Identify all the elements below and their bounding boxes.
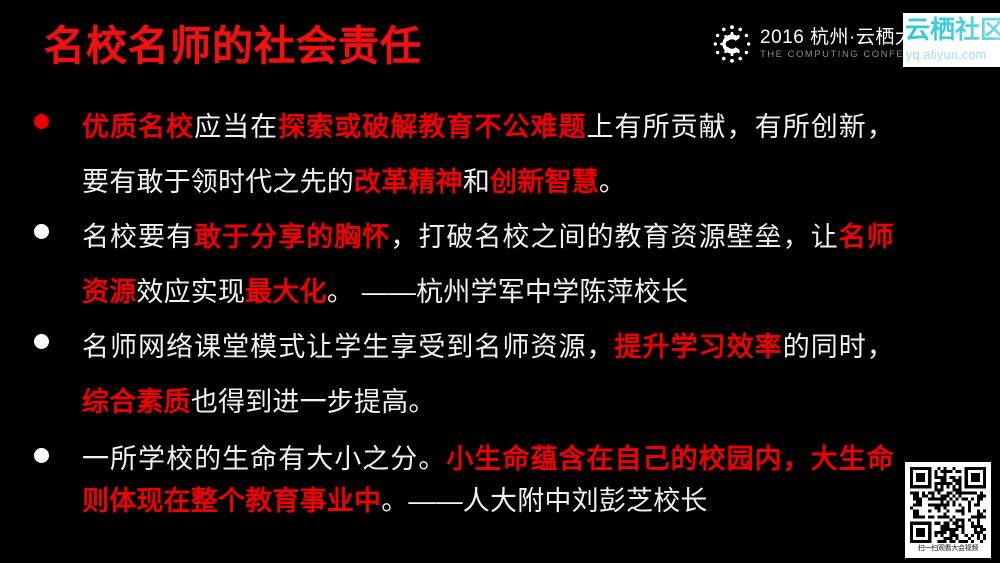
highlighted-text: 探索或破解教育不公难题 [278, 112, 586, 142]
list-item-text: 名师网络课堂模式让学生享受到名师资源，提升学习效率的同时，综合素质也得到进一步提… [82, 320, 894, 430]
community-badge-title: 云栖社区 [905, 15, 1000, 45]
plain-text: 。 [599, 167, 626, 197]
highlighted-text: 综合素质 [82, 387, 191, 417]
plain-text: 。 ——杭州学军中学陈萍校长 [327, 277, 688, 307]
list-item: 名校要有敢于分享的胸怀，打破名校之间的教育资源壁垒，让名师资源效应实现最大化。 … [34, 210, 894, 320]
bullet-marker-icon [34, 224, 49, 239]
highlighted-text: 创新智慧 [490, 167, 599, 197]
qr-code-caption: 扫一扫观看大会视频 [905, 543, 991, 554]
plain-text: 和 [463, 167, 490, 197]
list-item: 一所学校的生命有大小之分。小生命蕴含在自己的校园内，大生命则体现在整个教育事业中… [34, 438, 894, 522]
bullet-marker-icon [34, 448, 49, 463]
slide-body: 优质名校应当在探索或破解教育不公难题上有所贡献，有所创新，要有敢于领时代之先的改… [0, 88, 1000, 563]
list-item: 优质名校应当在探索或破解教育不公难题上有所贡献，有所创新，要有敢于领时代之先的改… [34, 100, 894, 210]
community-badge[interactable]: 云栖社区 yq.aliyun.com [903, 13, 1000, 67]
page-title: 名校名师的社会责任 [44, 22, 422, 71]
slide-header: 名校名师的社会责任 [0, 0, 1000, 88]
plain-text: 。——人大附中刘彭芝校长 [381, 486, 707, 516]
community-badge-url: yq.aliyun.com [906, 47, 986, 63]
list-item-text: 一所学校的生命有大小之分。小生命蕴含在自己的校园内，大生命则体现在整个教育事业中… [82, 438, 894, 522]
plain-text: ，打破名校之间的教育资源壁垒，让 [390, 222, 838, 252]
highlighted-text: 最大化 [245, 277, 327, 307]
plain-text: 一所学校的生命有大小之分。 [82, 444, 446, 474]
plain-text: 应当在 [194, 112, 278, 142]
plain-text: 效应实现 [136, 277, 245, 307]
bullet-marker-icon [34, 334, 49, 349]
plain-text: 名师网络课堂模式让学生享受到名师资源， [82, 332, 615, 362]
computing-conference-c-mark [712, 24, 752, 64]
list-item: 名师网络课堂模式让学生享受到名师资源，提升学习效率的同时，综合素质也得到进一步提… [34, 320, 894, 430]
slide-root: 名校名师的社会责任 [0, 0, 1000, 563]
list-item-text: 名校要有敢于分享的胸怀，打破名校之间的教育资源壁垒，让名师资源效应实现最大化。 … [82, 210, 894, 320]
plain-text: 名校要有 [82, 222, 194, 252]
bullet-marker-icon [34, 114, 49, 129]
conference-video-qr-code[interactable]: 扫一扫观看大会视频 [905, 462, 991, 558]
highlighted-text: 提升学习效率 [615, 332, 783, 362]
plain-text: 也得到进一步提高。 [191, 387, 436, 417]
plain-text: 的同时， [783, 332, 894, 362]
highlighted-text: 敢于分享的胸怀 [194, 222, 390, 252]
list-item-text: 优质名校应当在探索或破解教育不公难题上有所贡献，有所创新，要有敢于领时代之先的改… [82, 100, 894, 210]
highlighted-text: 优质名校 [82, 112, 194, 142]
highlighted-text: 改革精神 [354, 167, 463, 197]
qr-code-icon [910, 467, 986, 543]
